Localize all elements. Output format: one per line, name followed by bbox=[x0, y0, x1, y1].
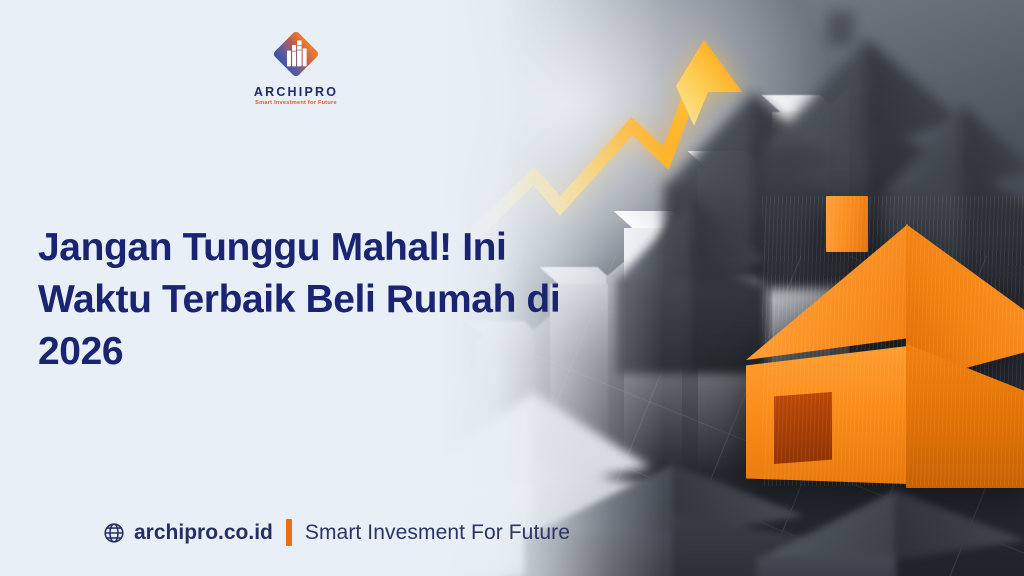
model-house-dark bbox=[756, 470, 1024, 576]
archipro-logo[interactable]: ARCHIPRO Smart Investment for Future bbox=[248, 26, 344, 106]
globe-icon bbox=[103, 522, 125, 544]
footer-divider bbox=[286, 519, 292, 546]
logo-wordmark: ARCHIPRO bbox=[248, 85, 344, 99]
website-url-text: archipro.co.id bbox=[134, 521, 273, 545]
website-link[interactable]: archipro.co.id bbox=[103, 521, 273, 545]
headline-text: Jangan Tunggu Mahal! Ini Waktu Terbaik B… bbox=[38, 222, 568, 378]
logo-diamond-icon bbox=[268, 26, 324, 82]
footer-slogan: Smart Invesment For Future bbox=[305, 521, 570, 545]
footer-bar: archipro.co.id Smart Invesment For Futur… bbox=[103, 519, 570, 546]
promo-banner: ARCHIPRO Smart Investment for Future Jan… bbox=[0, 0, 1024, 576]
logo-tagline: Smart Investment for Future bbox=[248, 100, 344, 106]
